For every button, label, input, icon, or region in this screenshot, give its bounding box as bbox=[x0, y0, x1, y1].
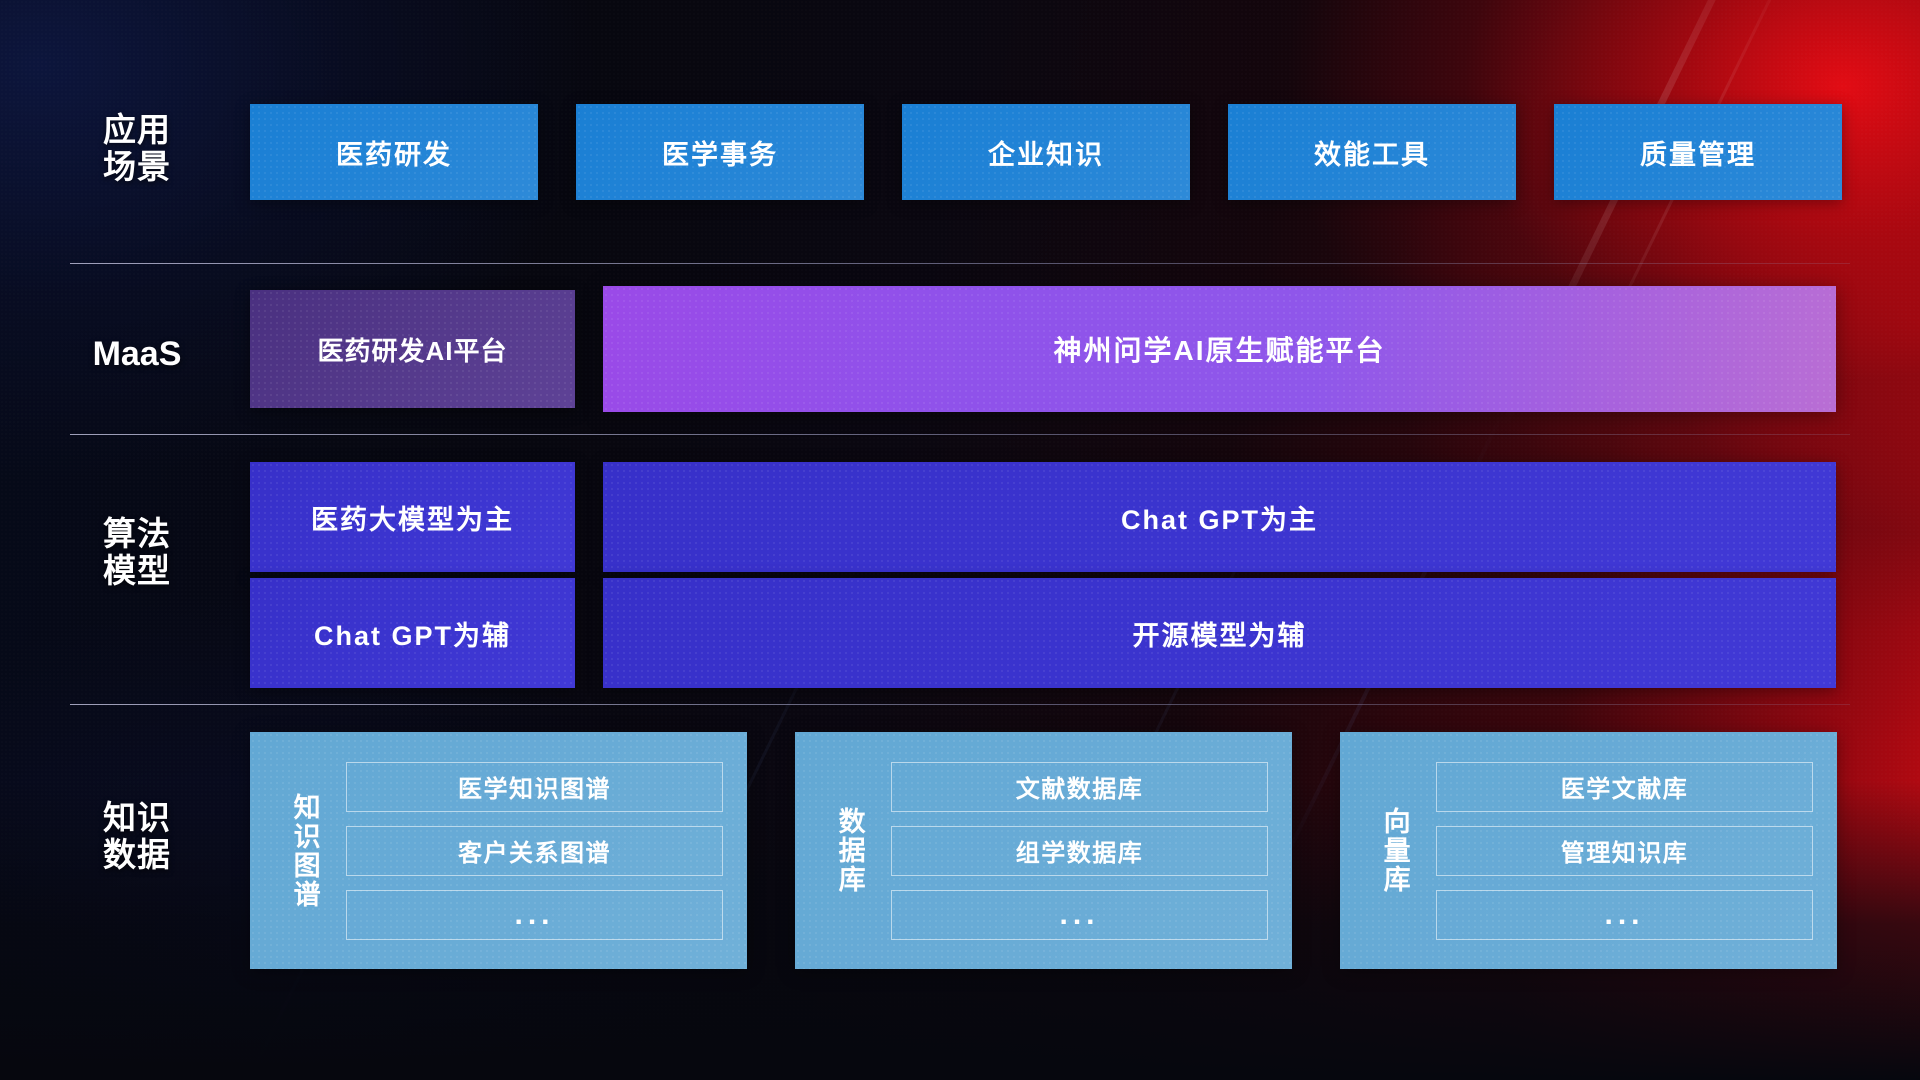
maas-platform-label: 医药研发AI平台 bbox=[317, 331, 507, 368]
row-label-scenarios: 应用 场景 bbox=[78, 112, 196, 186]
scenario-box-2[interactable]: 医学事务 bbox=[576, 104, 864, 200]
knowledge-card-vector-items: 医学文献库 管理知识库 ... bbox=[1436, 762, 1837, 940]
architecture-diagram: 应用 场景 医药研发 医学事务 企业知识 效能工具 质量管理 MaaS 医药研发… bbox=[0, 0, 1920, 1080]
knowledge-item-more[interactable]: ... bbox=[891, 890, 1268, 940]
maas-enablement-platform-bar[interactable]: 神州问学AI原生赋能平台 bbox=[603, 286, 1836, 412]
algorithm-box-right-2[interactable]: 开源模型为辅 bbox=[603, 578, 1836, 688]
scenario-box-5[interactable]: 质量管理 bbox=[1554, 104, 1842, 200]
algorithm-box-left-2[interactable]: Chat GPT为辅 bbox=[250, 578, 575, 688]
row-label-maas-text: MaaS bbox=[78, 335, 196, 373]
knowledge-card-graph-category: 知识图谱 bbox=[268, 732, 340, 969]
row-label-scenarios-line2: 场景 bbox=[78, 149, 196, 186]
algorithm-box-left-1-label: 医药大模型为主 bbox=[311, 498, 514, 537]
knowledge-item[interactable]: 客户关系图谱 bbox=[346, 826, 723, 876]
knowledge-item[interactable]: 文献数据库 bbox=[891, 762, 1268, 812]
knowledge-card-graph[interactable]: 知识图谱 医学知识图谱 客户关系图谱 ... bbox=[250, 732, 747, 969]
knowledge-card-database-category: 数据库 bbox=[813, 732, 885, 969]
row-label-algorithms-line2: 模型 bbox=[78, 553, 196, 590]
maas-platform-box[interactable]: 医药研发AI平台 bbox=[250, 290, 575, 408]
scenario-box-5-label: 质量管理 bbox=[1640, 133, 1756, 172]
algorithm-box-left-1[interactable]: 医药大模型为主 bbox=[250, 462, 575, 572]
scenario-box-1-label: 医药研发 bbox=[336, 133, 452, 172]
divider-maas-algorithms bbox=[70, 434, 1850, 435]
maas-enablement-platform-label: 神州问学AI原生赋能平台 bbox=[1053, 329, 1385, 369]
row-label-scenarios-line1: 应用 bbox=[78, 112, 196, 149]
algorithm-box-right-2-label: 开源模型为辅 bbox=[1133, 614, 1307, 653]
row-label-knowledge-line1: 知识 bbox=[78, 800, 196, 837]
knowledge-item-more[interactable]: ... bbox=[1436, 890, 1813, 940]
knowledge-card-vector-category: 向量库 bbox=[1358, 732, 1430, 969]
knowledge-card-database-items: 文献数据库 组学数据库 ... bbox=[891, 762, 1292, 940]
scenario-box-4[interactable]: 效能工具 bbox=[1228, 104, 1516, 200]
knowledge-item[interactable]: 管理知识库 bbox=[1436, 826, 1813, 876]
scenario-box-1[interactable]: 医药研发 bbox=[250, 104, 538, 200]
scenario-box-3-label: 企业知识 bbox=[988, 133, 1104, 172]
knowledge-card-graph-items: 医学知识图谱 客户关系图谱 ... bbox=[346, 762, 747, 940]
divider-scenarios-maas bbox=[70, 263, 1850, 264]
knowledge-card-vector[interactable]: 向量库 医学文献库 管理知识库 ... bbox=[1340, 732, 1837, 969]
scenario-box-2-label: 医学事务 bbox=[662, 133, 778, 172]
row-label-algorithms-line1: 算法 bbox=[78, 516, 196, 553]
row-label-maas: MaaS bbox=[78, 335, 196, 373]
row-label-knowledge-line2: 数据 bbox=[78, 837, 196, 874]
knowledge-item[interactable]: 医学文献库 bbox=[1436, 762, 1813, 812]
knowledge-item[interactable]: 医学知识图谱 bbox=[346, 762, 723, 812]
algorithm-box-right-1[interactable]: Chat GPT为主 bbox=[603, 462, 1836, 572]
algorithm-box-left-2-label: Chat GPT为辅 bbox=[314, 614, 511, 653]
knowledge-card-database[interactable]: 数据库 文献数据库 组学数据库 ... bbox=[795, 732, 1292, 969]
scenario-box-4-label: 效能工具 bbox=[1314, 133, 1430, 172]
divider-algorithms-knowledge bbox=[70, 704, 1850, 705]
knowledge-item-more[interactable]: ... bbox=[346, 890, 723, 940]
row-label-algorithms: 算法 模型 bbox=[78, 516, 196, 590]
knowledge-item[interactable]: 组学数据库 bbox=[891, 826, 1268, 876]
row-label-knowledge: 知识 数据 bbox=[78, 800, 196, 874]
scenario-box-3[interactable]: 企业知识 bbox=[902, 104, 1190, 200]
algorithm-box-right-1-label: Chat GPT为主 bbox=[1121, 498, 1318, 537]
